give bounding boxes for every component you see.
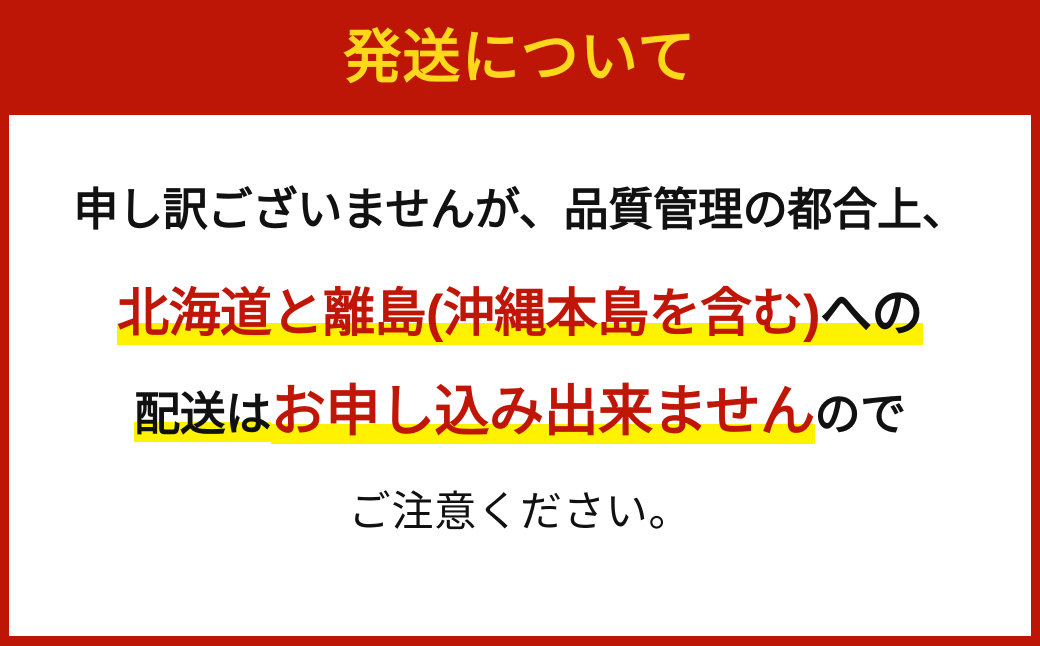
page-title: 発送について: [343, 29, 696, 87]
notice-line-3: 配送はお申し込み出来ませんので: [134, 384, 905, 439]
notice-body: 申し訳ございませんが、品質管理の都合上、 北海道と離島(沖縄本島を含む)への 配…: [9, 187, 1031, 533]
notice-line-2: 北海道と離島(沖縄本島を含む)への: [117, 288, 923, 340]
notice-line-3-suffix: ので: [815, 388, 906, 440]
notice-line-4-text: ご注意ください。: [349, 488, 692, 535]
no-order-accepted-highlight: お申し込み出来ません: [271, 380, 815, 444]
notice-line-1-text: 申し訳ございませんが、品質管理の都合上、: [73, 184, 966, 235]
notice-line-3-prefix: 配送は: [134, 388, 271, 442]
notice-line-1: 申し訳ございませんが、品質管理の都合上、: [73, 187, 966, 232]
banner-header: 発送について: [0, 0, 1040, 115]
notice-line-2-suffix: への: [820, 285, 923, 345]
notice-line-4: ご注意ください。: [349, 491, 692, 533]
notice-panel: 申し訳ございませんが、品質管理の都合上、 北海道と離島(沖縄本島を含む)への 配…: [9, 115, 1031, 636]
shipping-notice-banner: 発送について 申し訳ございませんが、品質管理の都合上、 北海道と離島(沖縄本島を…: [0, 0, 1040, 646]
restricted-regions-highlight: 北海道と離島(沖縄本島を含む): [117, 285, 820, 345]
